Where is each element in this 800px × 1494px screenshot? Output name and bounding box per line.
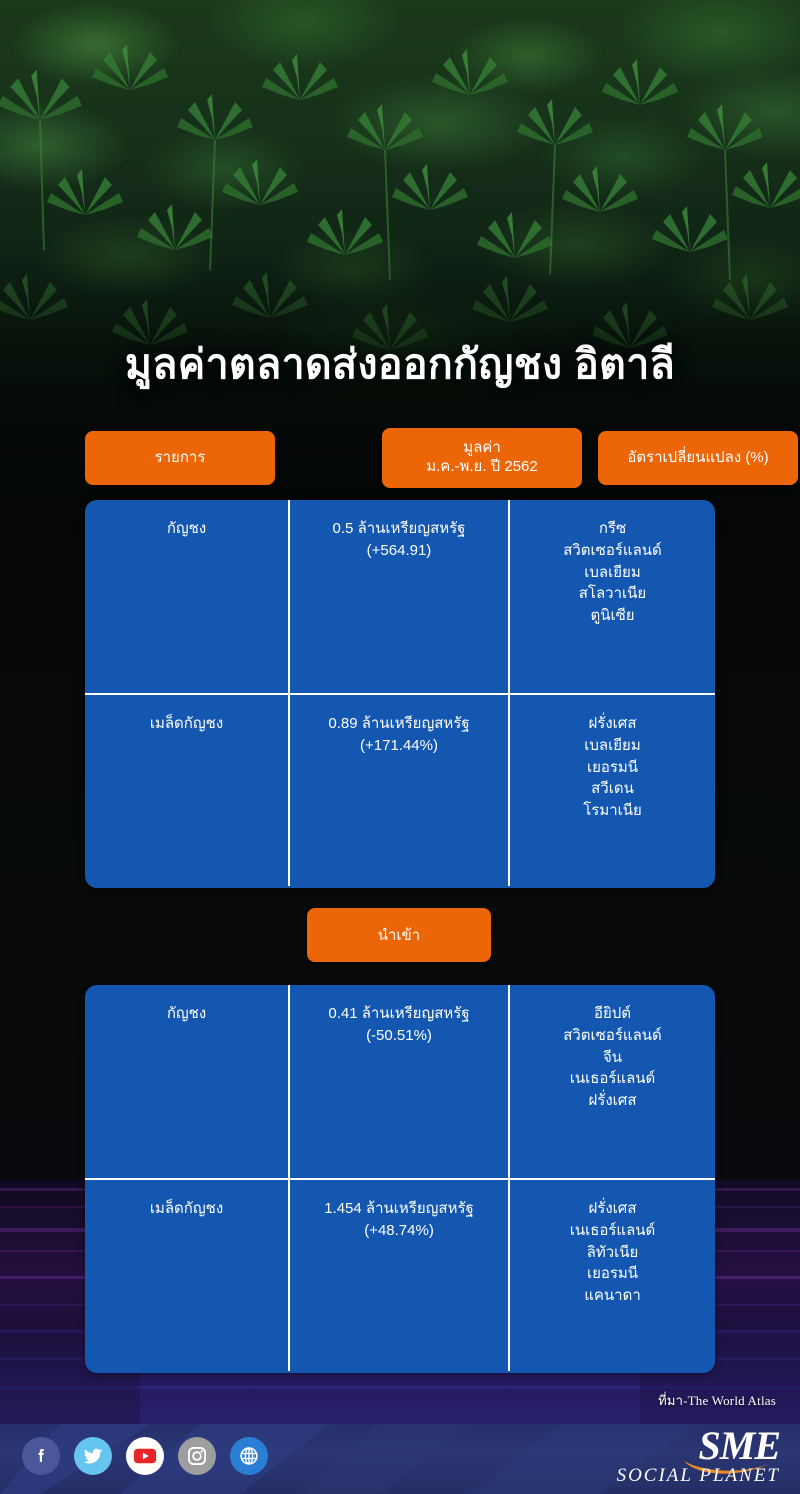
country-name: ลิทัวเนีย — [516, 1242, 709, 1264]
header-value-line1: มูลค่า — [426, 439, 538, 458]
import-section-badge: นำเข้า — [307, 908, 491, 962]
header-label-change-rate: อัตราเปลี่ยนแปลง (%) — [627, 449, 768, 468]
table-column-headers: รายการ มูลค่า ม.ค.-พ.ย. ปี 2562 อัตราเปล… — [85, 428, 715, 488]
social-link-website[interactable] — [230, 1437, 268, 1475]
country-name: เบลเยียม — [516, 562, 709, 584]
globe-icon — [238, 1445, 260, 1467]
country-name: สวิตเซอร์แลนด์ — [516, 1025, 709, 1047]
country-name: เบลเยียม — [516, 735, 709, 757]
table-row: เมล็ดกัญชง 0.89 ล้านเหรียญสหรัฐ (+171.44… — [85, 693, 715, 886]
social-link-twitter[interactable] — [74, 1437, 112, 1475]
logo-sub-text: SOCIAL PLANET — [617, 1466, 780, 1485]
cell-item: เมล็ดกัญชง — [85, 695, 288, 886]
cell-value-change: (-50.51%) — [296, 1025, 502, 1047]
social-links — [22, 1437, 268, 1475]
export-table: กัญชง 0.5 ล้านเหรียญสหรัฐ (+564.91) กรีซ… — [85, 500, 715, 888]
page-title: มูลค่าตลาดส่งออกกัญชง อิตาลี — [0, 340, 800, 388]
header-label-item: รายการ — [155, 449, 206, 468]
cell-item: กัญชง — [85, 985, 288, 1178]
cell-value-amount: 0.41 ล้านเหรียญสหรัฐ — [296, 1003, 502, 1025]
cell-value: 0.41 ล้านเหรียญสหรัฐ (-50.51%) — [288, 985, 510, 1178]
facebook-icon — [31, 1446, 51, 1466]
table-row: กัญชง 0.41 ล้านเหรียญสหรัฐ (-50.51%) อีย… — [85, 985, 715, 1178]
header-value-line2: ม.ค.-พ.ย. ปี 2562 — [426, 458, 538, 477]
header-pill-item: รายการ — [85, 431, 275, 485]
youtube-icon — [133, 1447, 157, 1465]
cell-countries: อียิปต์ สวิตเซอร์แลนด์ จีน เนเธอร์แลนด์ … — [510, 985, 715, 1178]
table-row: กัญชง 0.5 ล้านเหรียญสหรัฐ (+564.91) กรีซ… — [85, 500, 715, 693]
cell-countries: ฝรั่งเศส เบลเยียม เยอรมนี สวีเดน โรมาเนี… — [510, 695, 715, 886]
country-name: แคนาดา — [516, 1285, 709, 1307]
cell-value-amount: 0.89 ล้านเหรียญสหรัฐ — [296, 713, 502, 735]
country-name: ฝรั่งเศส — [516, 1198, 709, 1220]
country-name: สวีเดน — [516, 778, 709, 800]
sme-social-planet-logo: SME SOCIAL PLANET — [570, 1428, 780, 1490]
country-name: ตูนิเซีย — [516, 605, 709, 627]
country-name: เยอรมนี — [516, 1263, 709, 1285]
cell-value: 0.5 ล้านเหรียญสหรัฐ (+564.91) — [288, 500, 510, 693]
country-name: เนเธอร์แลนด์ — [516, 1220, 709, 1242]
cell-countries: กรีซ สวิตเซอร์แลนด์ เบลเยียม สโลวาเนีย ต… — [510, 500, 715, 693]
infographic-page: มูลค่าตลาดส่งออกกัญชง อิตาลี รายการ มูลค… — [0, 0, 800, 1494]
table-row: เมล็ดกัญชง 1.454 ล้านเหรียญสหรัฐ (+48.74… — [85, 1178, 715, 1371]
country-name: ฝรั่งเศส — [516, 1090, 709, 1112]
cell-value-amount: 0.5 ล้านเหรียญสหรัฐ — [296, 518, 502, 540]
cell-value-change: (+48.74%) — [296, 1220, 502, 1242]
twitter-icon — [82, 1445, 104, 1467]
social-link-instagram[interactable] — [178, 1437, 216, 1475]
country-name: จีน — [516, 1047, 709, 1069]
country-name: เยอรมนี — [516, 757, 709, 779]
cell-value-change: (+171.44%) — [296, 735, 502, 757]
cell-item: เมล็ดกัญชง — [85, 1180, 288, 1371]
header-pill-value: มูลค่า ม.ค.-พ.ย. ปี 2562 — [382, 428, 582, 488]
country-name: สวิตเซอร์แลนด์ — [516, 540, 709, 562]
cell-item: กัญชง — [85, 500, 288, 693]
header-label-value: มูลค่า ม.ค.-พ.ย. ปี 2562 — [426, 439, 538, 477]
country-name: อียิปต์ — [516, 1003, 709, 1025]
cell-value: 0.89 ล้านเหรียญสหรัฐ (+171.44%) — [288, 695, 510, 886]
source-credit: ที่มา-The World Atlas — [658, 1390, 776, 1411]
social-link-facebook[interactable] — [22, 1437, 60, 1475]
cell-value: 1.454 ล้านเหรียญสหรัฐ (+48.74%) — [288, 1180, 510, 1371]
import-table: กัญชง 0.41 ล้านเหรียญสหรัฐ (-50.51%) อีย… — [85, 985, 715, 1373]
import-badge-label: นำเข้า — [378, 923, 420, 947]
country-name: กรีซ — [516, 518, 709, 540]
country-name: โรมาเนีย — [516, 800, 709, 822]
country-name: สโลวาเนีย — [516, 583, 709, 605]
cell-countries: ฝรั่งเศส เนเธอร์แลนด์ ลิทัวเนีย เยอรมนี … — [510, 1180, 715, 1371]
instagram-icon — [186, 1445, 208, 1467]
social-link-youtube[interactable] — [126, 1437, 164, 1475]
cell-value-amount: 1.454 ล้านเหรียญสหรัฐ — [296, 1198, 502, 1220]
country-name: ฝรั่งเศส — [516, 713, 709, 735]
cell-value-change: (+564.91) — [296, 540, 502, 562]
country-name: เนเธอร์แลนด์ — [516, 1068, 709, 1090]
header-pill-change-rate: อัตราเปลี่ยนแปลง (%) — [598, 431, 798, 485]
